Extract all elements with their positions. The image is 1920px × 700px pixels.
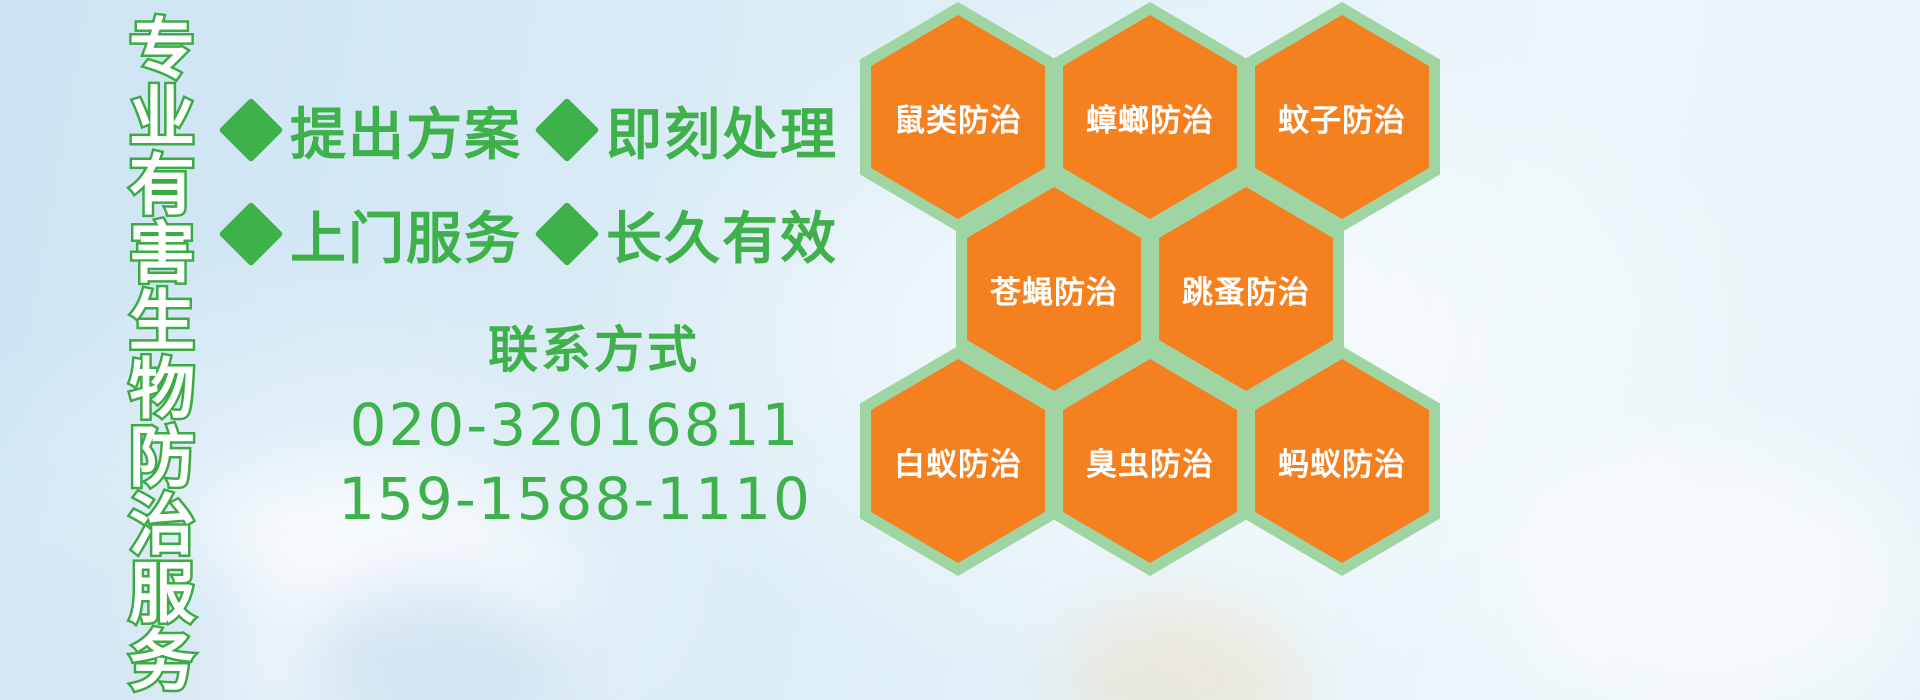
promo-banner: 专 业 有 害 生 物 防 治 服 务 提出方案 即刻处理 上门服务 (0, 0, 1920, 700)
vertical-headline-char: 有 (129, 152, 195, 220)
service-honeycomb: 鼠类防治 蟑螂防治 蚊子防治 苍蝇防治 (856, 0, 1476, 566)
hexagon-inner: 蚂蚁防治 (1255, 359, 1429, 563)
service-label: 蟑螂防治 (1086, 95, 1214, 140)
service-label: 跳蚤防治 (1182, 267, 1310, 312)
feature-label: 提出方案 (290, 90, 522, 171)
phone-number-mobile[interactable]: 159-1588-1110 (330, 462, 820, 536)
diamond-icon (218, 97, 283, 162)
feature-item: 长久有效 (544, 194, 838, 275)
diamond-icon (218, 201, 283, 266)
hexagon-shape: 白蚁防治 (860, 346, 1056, 576)
service-hex-termite[interactable]: 白蚁防治 (860, 346, 1056, 576)
feature-label: 长久有效 (606, 194, 838, 275)
feature-item: 提出方案 (228, 90, 522, 171)
feature-list: 提出方案 即刻处理 上门服务 长久有效 (228, 78, 868, 286)
phone-number-landline[interactable]: 020-32016811 (330, 388, 820, 462)
service-label: 白蚁防治 (894, 439, 1022, 484)
vertical-headline-char: 服 (129, 560, 195, 628)
feature-item: 上门服务 (228, 194, 522, 275)
diamond-icon (534, 201, 599, 266)
diamond-icon (534, 97, 599, 162)
hexagon-shape: 蚂蚁防治 (1244, 346, 1440, 576)
vertical-headline-char: 业 (129, 84, 195, 152)
feature-row: 提出方案 即刻处理 (228, 78, 868, 182)
service-label: 鼠类防治 (894, 95, 1022, 140)
background-haze-blob (1500, 430, 1920, 700)
service-label: 苍蝇防治 (990, 267, 1118, 312)
vertical-headline: 专 业 有 害 生 物 防 治 服 务 (106, 16, 218, 576)
feature-row: 上门服务 长久有效 (228, 182, 868, 286)
hexagon-inner: 臭虫防治 (1063, 359, 1237, 563)
feature-label: 即刻处理 (606, 90, 838, 171)
vertical-headline-char: 治 (129, 492, 195, 560)
background-haze-blob (300, 585, 560, 700)
feature-label: 上门服务 (290, 194, 522, 275)
hexagon-inner: 白蚁防治 (871, 359, 1045, 563)
service-label: 臭虫防治 (1086, 439, 1214, 484)
vertical-headline-char: 专 (129, 16, 195, 84)
background-haze-blob (1060, 600, 1300, 700)
service-hex-bedbug[interactable]: 臭虫防治 (1052, 346, 1248, 576)
feature-item: 即刻处理 (544, 90, 838, 171)
service-label: 蚂蚁防治 (1278, 439, 1406, 484)
hexagon-shape: 臭虫防治 (1052, 346, 1248, 576)
contact-block: 联系方式 020-32016811 159-1588-1110 (300, 310, 820, 536)
contact-title: 联系方式 (368, 310, 820, 382)
vertical-headline-char: 防 (129, 424, 195, 492)
service-label: 蚊子防治 (1278, 95, 1406, 140)
vertical-headline-char: 害 (129, 220, 195, 288)
service-hex-ant[interactable]: 蚂蚁防治 (1244, 346, 1440, 576)
vertical-headline-char: 生 (129, 288, 195, 356)
vertical-headline-char: 物 (129, 356, 195, 424)
vertical-headline-char: 务 (129, 628, 195, 696)
